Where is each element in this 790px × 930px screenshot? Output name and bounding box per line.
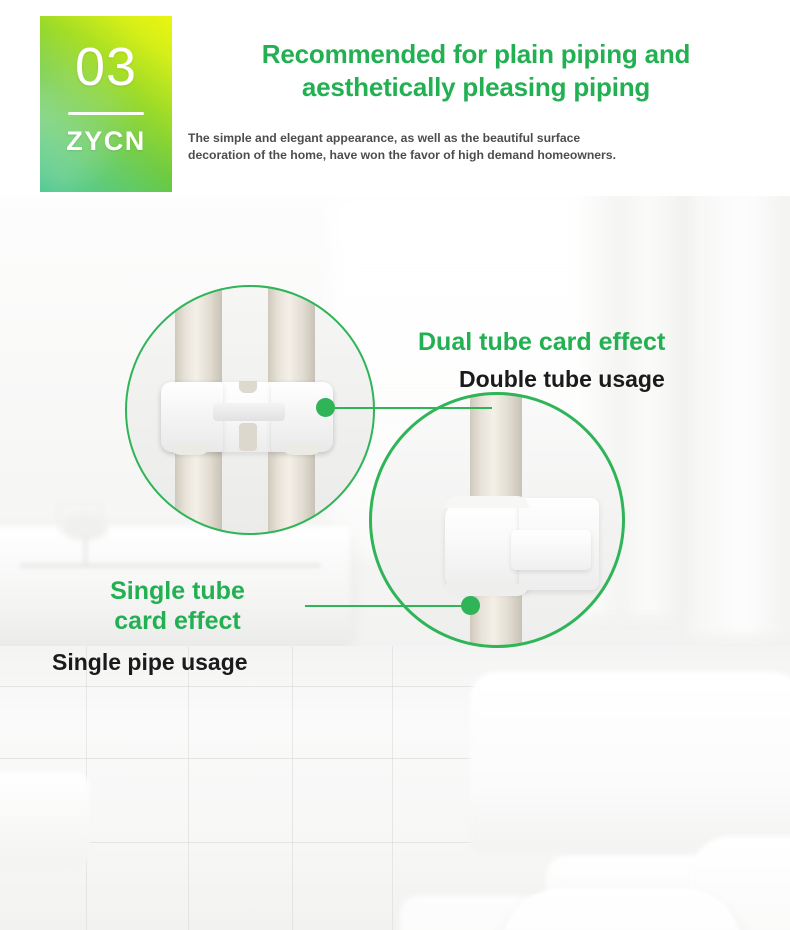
badge-divider [68, 112, 144, 115]
dual-tube-label-title: Dual tube card effect [418, 328, 665, 358]
dual-tube-clip-notch-top [239, 381, 257, 393]
page-title: Recommended for plain piping and aesthet… [196, 38, 756, 104]
single-tube-label-title-line-1: Single tube [70, 577, 285, 607]
dual-tube-clip-bridge [213, 403, 285, 421]
page-subtitle: The simple and elegant appearance, as we… [188, 130, 740, 165]
single-tube-label-title: Single tube card effect [70, 577, 285, 636]
single-tube-label-title-line-2: card effect [70, 607, 285, 637]
single-tube-magnifier-circle [369, 392, 625, 648]
single-tube-marker-dot [461, 596, 480, 615]
dual-tube-clip-right-foot [281, 443, 323, 455]
dual-tube-label-subtitle: Double tube usage [459, 366, 665, 393]
dual-tube-leader-line [330, 407, 492, 409]
page-title-line-1: Recommended for plain piping and [196, 38, 756, 71]
floor-tile-line [188, 646, 189, 930]
single-tube-clip-top-lip [445, 496, 529, 508]
single-tube-label-subtitle: Single pipe usage [52, 649, 248, 676]
single-tube-clip-bottom-lip [445, 584, 529, 596]
page-subtitle-line-2: decoration of the home, have won the fav… [188, 147, 740, 164]
dual-tube-magnifier-circle [125, 285, 375, 535]
cabinet-edge [20, 564, 320, 567]
product-photo-scene: Dual tube card effect Double tube usage … [0, 196, 790, 930]
dual-tube-clip-notch-bottom [239, 423, 257, 451]
floor-tile-line [292, 646, 293, 930]
dual-tube-clip-left-foot [169, 443, 211, 455]
single-tube-clip-latch-tab [511, 530, 591, 570]
page-subtitle-line-1: The simple and elegant appearance, as we… [188, 130, 740, 147]
sofa-left-arm [502, 888, 742, 930]
section-number-badge: 03 ZYCN [40, 16, 172, 192]
badge-brand-name: ZYCN [40, 128, 172, 155]
badge-number: 03 [40, 40, 172, 94]
product-banner: 03 ZYCN Recommended for plain piping and… [0, 0, 790, 930]
table-lamp-stem [84, 536, 87, 566]
page-title-line-2: aesthetically pleasing piping [196, 71, 756, 104]
dual-tube-marker-dot [316, 398, 335, 417]
ottoman [0, 772, 90, 868]
curtain-right [690, 196, 790, 636]
header: 03 ZYCN Recommended for plain piping and… [0, 0, 790, 196]
single-tube-leader-line [305, 605, 475, 607]
sofa-backrest [470, 672, 790, 852]
floor-tile-line [392, 646, 393, 930]
